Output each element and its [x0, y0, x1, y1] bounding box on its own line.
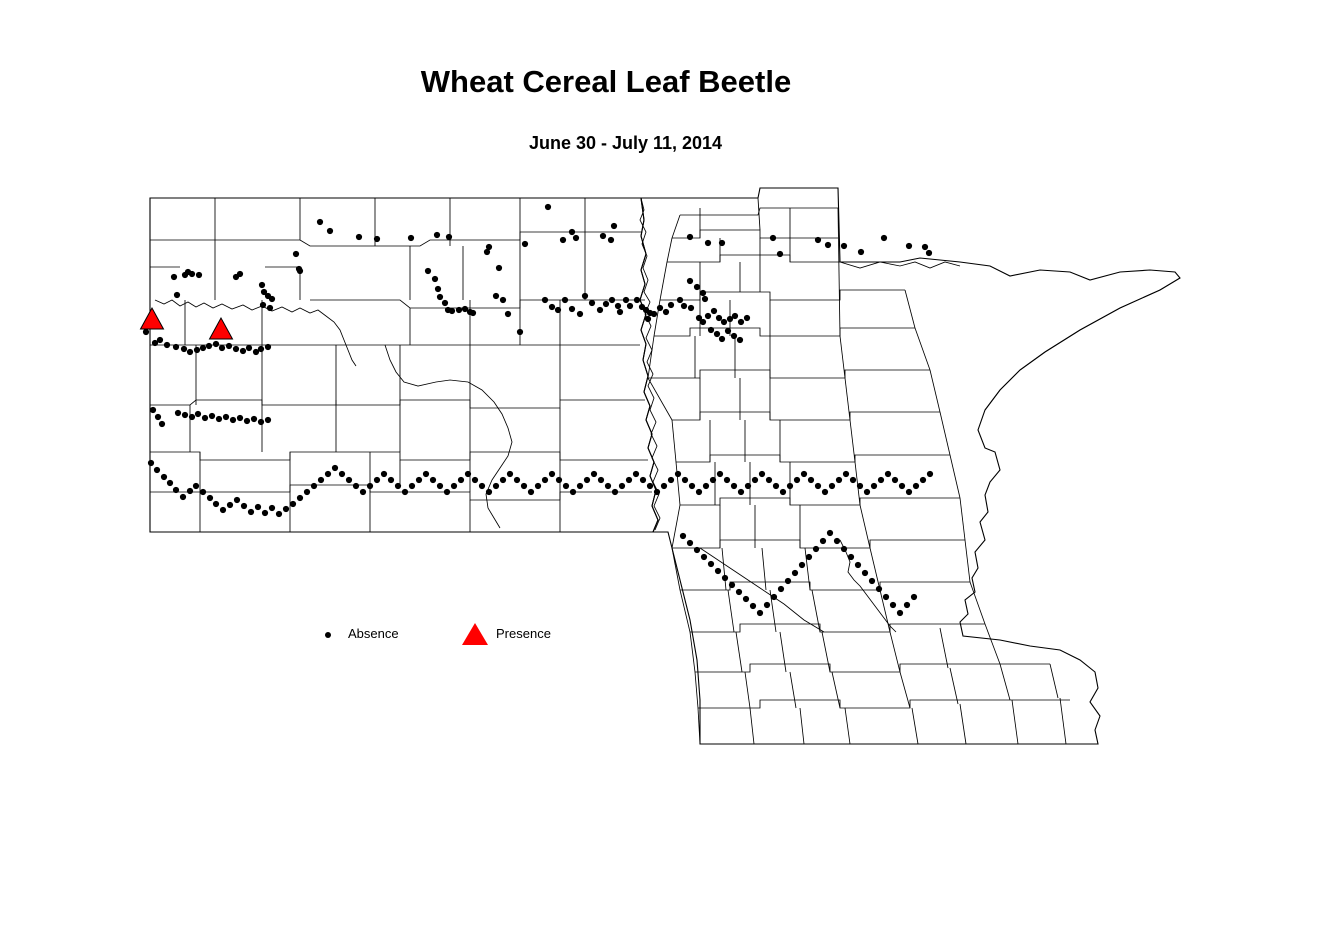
- absence-dot-marker: [647, 483, 653, 489]
- absence-dot-marker: [181, 346, 187, 352]
- absence-dot-marker: [619, 483, 625, 489]
- absence-dot-marker: [738, 489, 744, 495]
- absence-dot-marker: [449, 308, 455, 314]
- absence-dot-marker: [608, 237, 614, 243]
- absence-dot-marker: [745, 483, 751, 489]
- absence-dot-marker: [185, 269, 191, 275]
- absence-dot-marker: [402, 489, 408, 495]
- absence-dot-marker: [356, 234, 362, 240]
- absence-dot-marker: [719, 336, 725, 342]
- absence-dot-marker: [688, 305, 694, 311]
- absence-dot-marker: [633, 471, 639, 477]
- county-boundaries: [150, 198, 1180, 744]
- absence-dot-marker: [668, 302, 674, 308]
- absence-dot-marker: [472, 477, 478, 483]
- absence-dot-marker: [555, 307, 561, 313]
- absence-dot-marker: [206, 343, 212, 349]
- absence-dot-marker: [858, 249, 864, 255]
- absence-dot-marker: [813, 546, 819, 552]
- absence-dot-marker: [556, 477, 562, 483]
- absence-dot-marker: [216, 416, 222, 422]
- absence-dot-marker: [148, 460, 154, 466]
- absence-dot-marker: [757, 610, 763, 616]
- absence-dot-marker: [484, 249, 490, 255]
- absence-dot-marker: [173, 487, 179, 493]
- absence-dot-marker: [409, 483, 415, 489]
- absence-dot-marker: [213, 341, 219, 347]
- absence-dot-marker: [715, 568, 721, 574]
- absence-dot-marker: [883, 594, 889, 600]
- absence-dot-marker: [187, 488, 193, 494]
- absence-dot-marker: [432, 276, 438, 282]
- absence-dot-marker: [213, 501, 219, 507]
- absence-dot-marker: [297, 268, 303, 274]
- absence-dot-marker: [827, 530, 833, 536]
- absence-dot-marker: [627, 303, 633, 309]
- absence-dot-marker: [806, 554, 812, 560]
- absence-dot-marker: [694, 284, 700, 290]
- absence-dot-marker: [143, 329, 149, 335]
- absence-dot-marker: [265, 417, 271, 423]
- absence-dot-marker: [220, 507, 226, 513]
- absence-dot-markers: [143, 204, 933, 616]
- absence-dot-marker: [456, 307, 462, 313]
- presence-triangle-marker: [210, 318, 233, 339]
- absence-dot-marker: [528, 489, 534, 495]
- absence-dot-marker: [904, 602, 910, 608]
- absence-dot-marker: [182, 412, 188, 418]
- absence-dot-marker: [496, 265, 502, 271]
- absence-dot-marker: [612, 489, 618, 495]
- absence-dot-marker: [617, 309, 623, 315]
- absence-dot-marker: [311, 483, 317, 489]
- absence-dot-marker: [573, 235, 579, 241]
- absence-dot-marker: [522, 241, 528, 247]
- absence-dot-marker: [927, 471, 933, 477]
- absence-dot-marker: [899, 483, 905, 489]
- absence-dot-marker: [233, 346, 239, 352]
- absence-dot-marker: [737, 337, 743, 343]
- absence-dot-marker: [675, 471, 681, 477]
- dot-marker-icon: [325, 632, 331, 638]
- absence-dot-marker: [700, 290, 706, 296]
- absence-dot-marker: [687, 540, 693, 546]
- absence-dot-marker: [195, 411, 201, 417]
- absence-dot-marker: [689, 483, 695, 489]
- absence-dot-marker: [687, 278, 693, 284]
- absence-dot-marker: [836, 477, 842, 483]
- absence-dot-marker: [171, 274, 177, 280]
- absence-dot-marker: [317, 219, 323, 225]
- absence-dot-marker: [360, 489, 366, 495]
- absence-dot-marker: [657, 305, 663, 311]
- absence-dot-marker: [722, 575, 728, 581]
- absence-dot-marker: [732, 313, 738, 319]
- absence-dot-marker: [640, 477, 646, 483]
- absence-dot-marker: [381, 471, 387, 477]
- absence-dot-marker: [374, 236, 380, 242]
- presence-triangle-marker: [141, 308, 164, 329]
- absence-dot-marker: [562, 297, 568, 303]
- absence-dot-marker: [290, 501, 296, 507]
- absence-dot-marker: [241, 503, 247, 509]
- absence-dot-marker: [200, 345, 206, 351]
- absence-dot-marker: [189, 414, 195, 420]
- absence-dot-marker: [920, 477, 926, 483]
- absence-dot-marker: [848, 554, 854, 560]
- absence-dot-marker: [701, 554, 707, 560]
- absence-dot-marker: [500, 477, 506, 483]
- absence-dot-marker: [159, 421, 165, 427]
- absence-dot-marker: [267, 305, 273, 311]
- absence-dot-marker: [434, 232, 440, 238]
- absence-dot-marker: [736, 589, 742, 595]
- absence-dot-marker: [645, 316, 651, 322]
- absence-dot-marker: [687, 234, 693, 240]
- absence-dot-marker: [332, 465, 338, 471]
- absence-dot-marker: [876, 586, 882, 592]
- absence-dot-marker: [871, 483, 877, 489]
- absence-dot-marker: [542, 297, 548, 303]
- absence-dot-marker: [681, 303, 687, 309]
- absence-dot-marker: [820, 538, 826, 544]
- absence-dot-marker: [246, 345, 252, 351]
- absence-dot-marker: [609, 297, 615, 303]
- absence-dot-marker: [563, 483, 569, 489]
- absence-dot-marker: [514, 477, 520, 483]
- absence-dot-marker: [367, 483, 373, 489]
- absence-dot-marker: [850, 477, 856, 483]
- absence-dot-marker: [423, 471, 429, 477]
- absence-dot-marker: [605, 483, 611, 489]
- absence-dot-marker: [750, 603, 756, 609]
- absence-dot-marker: [878, 477, 884, 483]
- absence-dot-marker: [591, 471, 597, 477]
- absence-dot-marker: [444, 489, 450, 495]
- absence-dot-marker: [714, 331, 720, 337]
- absence-dot-marker: [219, 345, 225, 351]
- absence-dot-marker: [318, 477, 324, 483]
- absence-dot-marker: [785, 578, 791, 584]
- absence-dot-marker: [794, 477, 800, 483]
- absence-dot-marker: [731, 483, 737, 489]
- absence-dot-marker: [255, 504, 261, 510]
- absence-dot-marker: [194, 347, 200, 353]
- absence-dot-marker: [325, 471, 331, 477]
- absence-dot-marker: [569, 229, 575, 235]
- absence-dot-marker: [265, 344, 271, 350]
- absence-dot-marker: [792, 570, 798, 576]
- absence-dot-marker: [822, 489, 828, 495]
- absence-dot-marker: [710, 477, 716, 483]
- absence-dot-marker: [744, 315, 750, 321]
- absence-dot-marker: [724, 477, 730, 483]
- absence-dot-marker: [911, 594, 917, 600]
- absence-dot-marker: [570, 489, 576, 495]
- absence-dot-marker: [721, 319, 727, 325]
- absence-dot-marker: [780, 489, 786, 495]
- absence-dot-marker: [157, 337, 163, 343]
- absence-dot-marker: [154, 467, 160, 473]
- absence-dot-marker: [926, 250, 932, 256]
- absence-dot-marker: [682, 477, 688, 483]
- absence-dot-marker: [521, 483, 527, 489]
- absence-dot-marker: [425, 268, 431, 274]
- state-county-map[interactable]: [0, 0, 1341, 926]
- absence-dot-marker: [694, 547, 700, 553]
- absence-dot-marker: [230, 417, 236, 423]
- absence-dot-marker: [223, 414, 229, 420]
- absence-dot-marker: [262, 510, 268, 516]
- absence-dot-marker: [500, 297, 506, 303]
- absence-dot-marker: [260, 302, 266, 308]
- absence-dot-marker: [815, 483, 821, 489]
- absence-dot-marker: [700, 319, 706, 325]
- absence-dot-marker: [626, 477, 632, 483]
- absence-dot-marker: [716, 315, 722, 321]
- absence-dot-marker: [269, 505, 275, 511]
- absence-dot-marker: [237, 271, 243, 277]
- absence-dot-marker: [304, 489, 310, 495]
- absence-dot-marker: [549, 304, 555, 310]
- absence-dot-marker: [569, 306, 575, 312]
- map-figure: Wheat Cereal Leaf Beetle June 30 - July …: [0, 0, 1341, 926]
- absence-dot-marker: [668, 477, 674, 483]
- presence-triangle-markers: [141, 308, 233, 339]
- absence-dot-marker: [651, 311, 657, 317]
- absence-dot-marker: [437, 294, 443, 300]
- absence-dot-marker: [885, 471, 891, 477]
- absence-dot-marker: [654, 489, 660, 495]
- absence-dot-marker: [207, 495, 213, 501]
- absence-dot-marker: [560, 237, 566, 243]
- absence-dot-marker: [339, 471, 345, 477]
- absence-dot-marker: [167, 480, 173, 486]
- absence-dot-marker: [577, 311, 583, 317]
- absence-dot-marker: [881, 235, 887, 241]
- absence-dot-marker: [598, 477, 604, 483]
- absence-dot-marker: [209, 413, 215, 419]
- absence-dot-marker: [897, 610, 903, 616]
- absence-dot-marker: [615, 303, 621, 309]
- absence-dot-marker: [864, 489, 870, 495]
- absence-dot-marker: [752, 477, 758, 483]
- absence-dot-marker: [913, 483, 919, 489]
- absence-dot-marker: [545, 204, 551, 210]
- absence-dot-marker: [196, 272, 202, 278]
- absence-dot-marker: [505, 311, 511, 317]
- absence-dot-marker: [297, 495, 303, 501]
- absence-dot-marker: [799, 562, 805, 568]
- absence-dot-marker: [435, 286, 441, 292]
- absence-dot-marker: [244, 418, 250, 424]
- absence-dot-marker: [834, 538, 840, 544]
- absence-dot-marker: [582, 293, 588, 299]
- absence-dot-marker: [542, 477, 548, 483]
- absence-dot-marker: [766, 477, 772, 483]
- absence-dot-marker: [680, 533, 686, 539]
- absence-dot-marker: [600, 233, 606, 239]
- absence-dot-marker: [193, 483, 199, 489]
- absence-dot-marker: [180, 494, 186, 500]
- absence-dot-marker: [808, 477, 814, 483]
- absence-dot-marker: [906, 489, 912, 495]
- absence-dot-marker: [708, 561, 714, 567]
- absence-dot-marker: [892, 477, 898, 483]
- absence-dot-marker: [535, 483, 541, 489]
- absence-dot-marker: [388, 477, 394, 483]
- absence-dot-marker: [150, 407, 156, 413]
- absence-dot-marker: [486, 489, 492, 495]
- absence-dot-marker: [577, 483, 583, 489]
- absence-dot-marker: [465, 471, 471, 477]
- absence-dot-marker: [696, 489, 702, 495]
- absence-dot-marker: [890, 602, 896, 608]
- absence-dot-marker: [493, 293, 499, 299]
- absence-dot-marker: [442, 300, 448, 306]
- absence-dot-marker: [634, 297, 640, 303]
- absence-dot-marker: [187, 349, 193, 355]
- absence-dot-marker: [258, 346, 264, 352]
- absence-dot-marker: [703, 483, 709, 489]
- absence-dot-marker: [175, 410, 181, 416]
- absence-dot-marker: [611, 223, 617, 229]
- absence-dot-marker: [258, 419, 264, 425]
- absence-dot-marker: [663, 309, 669, 315]
- legend-label-presence: Presence: [496, 626, 551, 641]
- absence-dot-marker: [711, 308, 717, 314]
- absence-dot-marker: [705, 240, 711, 246]
- absence-dot-marker: [395, 483, 401, 489]
- absence-dot-marker: [517, 329, 523, 335]
- absence-dot-marker: [248, 509, 254, 515]
- absence-dot-marker: [202, 415, 208, 421]
- absence-dot-marker: [446, 234, 452, 240]
- absence-dot-marker: [862, 570, 868, 576]
- absence-dot-marker: [843, 471, 849, 477]
- absence-dot-marker: [237, 415, 243, 421]
- absence-dot-marker: [200, 489, 206, 495]
- absence-dot-marker: [479, 483, 485, 489]
- absence-dot-marker: [174, 292, 180, 298]
- absence-dot-marker: [801, 471, 807, 477]
- absence-dot-marker: [493, 483, 499, 489]
- absence-dot-marker: [787, 483, 793, 489]
- absence-dot-marker: [770, 235, 776, 241]
- triangle-marker-icon: [462, 623, 488, 645]
- absence-dot-marker: [430, 477, 436, 483]
- absence-dot-marker: [829, 483, 835, 489]
- absence-dot-marker: [589, 300, 595, 306]
- absence-dot-marker: [507, 471, 513, 477]
- map-legend: Absence Presence: [322, 620, 582, 648]
- absence-dot-marker: [226, 343, 232, 349]
- absence-dot-marker: [353, 483, 359, 489]
- absence-dot-marker: [623, 297, 629, 303]
- absence-dot-marker: [661, 483, 667, 489]
- absence-dot-marker: [269, 296, 275, 302]
- absence-dot-marker: [825, 242, 831, 248]
- absence-dot-marker: [155, 414, 161, 420]
- absence-dot-marker: [738, 319, 744, 325]
- absence-dot-marker: [764, 602, 770, 608]
- absence-dot-marker: [773, 483, 779, 489]
- absence-dot-marker: [729, 582, 735, 588]
- absence-dot-marker: [777, 251, 783, 257]
- absence-dot-marker: [815, 237, 821, 243]
- absence-dot-marker: [470, 310, 476, 316]
- absence-dot-marker: [251, 416, 257, 422]
- absence-dot-marker: [173, 344, 179, 350]
- absence-dot-marker: [869, 578, 875, 584]
- absence-dot-marker: [374, 477, 380, 483]
- absence-dot-marker: [841, 243, 847, 249]
- legend-label-absence: Absence: [348, 626, 399, 641]
- absence-dot-marker: [759, 471, 765, 477]
- absence-dot-marker: [771, 594, 777, 600]
- absence-dot-marker: [603, 301, 609, 307]
- absence-dot-marker: [922, 244, 928, 250]
- absence-dot-marker: [906, 243, 912, 249]
- absence-dot-marker: [259, 282, 265, 288]
- absence-dot-marker: [408, 235, 414, 241]
- absence-dot-marker: [719, 240, 725, 246]
- absence-dot-marker: [717, 471, 723, 477]
- absence-dot-marker: [451, 483, 457, 489]
- absence-dot-marker: [725, 328, 731, 334]
- absence-dot-marker: [234, 497, 240, 503]
- absence-dot-marker: [346, 477, 352, 483]
- absence-dot-marker: [743, 596, 749, 602]
- absence-dot-marker: [437, 483, 443, 489]
- absence-dot-marker: [705, 313, 711, 319]
- absence-dot-marker: [276, 511, 282, 517]
- absence-dot-marker: [855, 562, 861, 568]
- absence-dot-marker: [240, 348, 246, 354]
- absence-dot-marker: [677, 297, 683, 303]
- absence-dot-marker: [597, 307, 603, 313]
- absence-dot-marker: [731, 333, 737, 339]
- absence-dot-marker: [841, 546, 847, 552]
- absence-dot-marker: [227, 502, 233, 508]
- absence-dot-marker: [584, 477, 590, 483]
- absence-dot-marker: [702, 296, 708, 302]
- absence-dot-marker: [416, 477, 422, 483]
- absence-dot-marker: [857, 483, 863, 489]
- absence-dot-marker: [161, 474, 167, 480]
- absence-dot-marker: [283, 506, 289, 512]
- absence-dot-marker: [293, 251, 299, 257]
- absence-dot-marker: [458, 477, 464, 483]
- absence-dot-marker: [708, 327, 714, 333]
- absence-dot-marker: [327, 228, 333, 234]
- absence-dot-marker: [549, 471, 555, 477]
- absence-dot-marker: [164, 342, 170, 348]
- absence-dot-marker: [778, 586, 784, 592]
